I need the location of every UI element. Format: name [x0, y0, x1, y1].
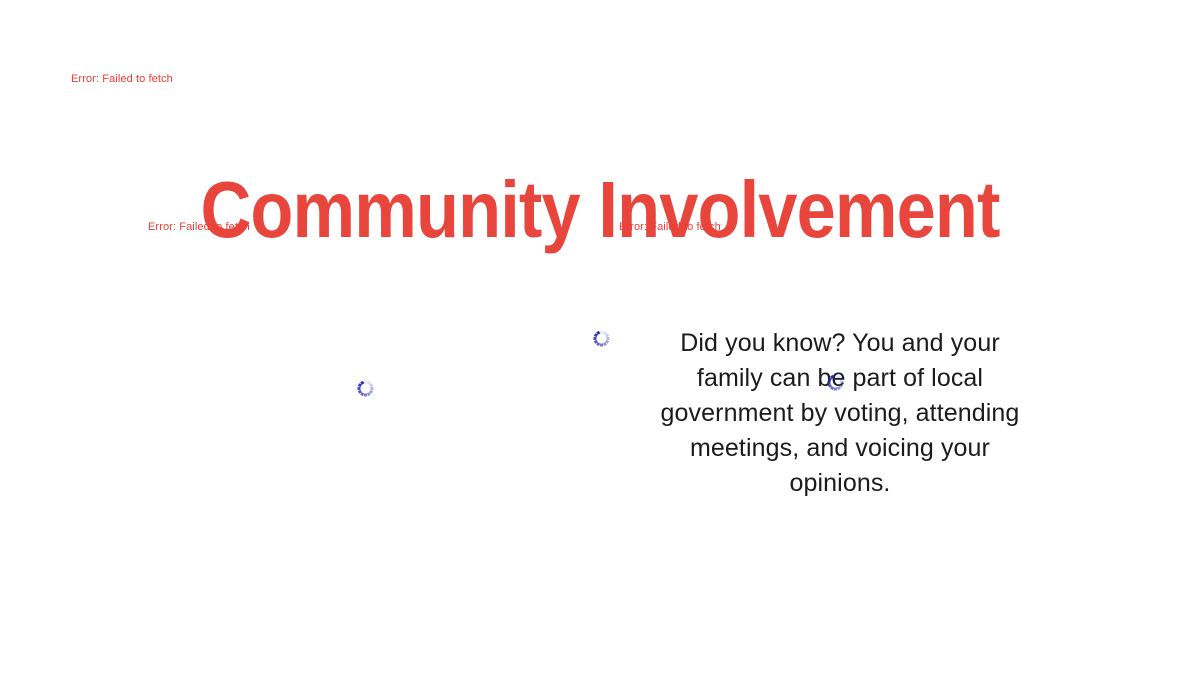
- error-message-top: Error: Failed to fetch: [71, 73, 173, 86]
- page-title: Community Involvement: [72, 167, 1128, 253]
- slide-canvas: Error: Failed to fetch Community Involve…: [0, 0, 1200, 675]
- loading-spinner-icon-right: [826, 373, 844, 391]
- error-message-left: Error: Failed to fetch: [148, 221, 250, 234]
- loading-spinner-icon-left: [356, 379, 374, 397]
- loading-spinner-icon-center: [592, 329, 610, 347]
- body-paragraph: Did you know? You and your family can be…: [660, 326, 1020, 501]
- error-message-middle: Error: Failed to fetch: [619, 221, 721, 234]
